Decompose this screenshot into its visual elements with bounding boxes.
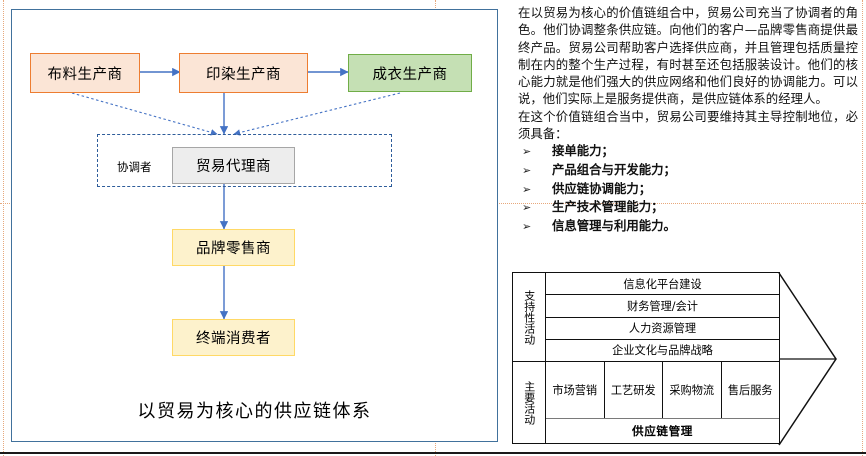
table-row: 企业文化与品牌战略 xyxy=(546,340,779,361)
list-item: ➢ 信息管理与利用能力。 xyxy=(518,217,858,236)
list-item: ➢ 产品组合与开发能力； xyxy=(518,161,858,180)
body-text: 在以贸易为核心的价值链组合中，贸易公司充当了协调者的角色。他们协调整条供应链。向… xyxy=(518,4,858,142)
value-chain-table: 支持性活动 信息化平台建设 财务管理/会计 人力资源管理 企业文化与品牌战略 主… xyxy=(512,272,780,444)
primary-activities-columns: 市场营销 工艺研发 采购物流 售后服务 供应链管理 xyxy=(546,362,779,443)
node-garment-producer[interactable]: 成衣生产商 xyxy=(348,54,472,92)
page-bottom-rule xyxy=(0,452,866,454)
arrow-bullet-icon: ➢ xyxy=(518,162,552,180)
node-label: 贸易代理商 xyxy=(196,155,271,176)
table-row: 人力资源管理 xyxy=(546,318,779,340)
arrow-bullet-icon: ➢ xyxy=(518,199,552,217)
node-trade-agent[interactable]: 贸易代理商 xyxy=(172,147,295,184)
guide-line-left xyxy=(3,0,4,456)
primary-activities-label: 主要活动 xyxy=(513,362,546,443)
node-label: 印染生产商 xyxy=(206,63,281,84)
list-item-label: 信息管理与利用能力。 xyxy=(552,217,676,235)
list-item: ➢ 接单能力； xyxy=(518,142,858,161)
value-chain-arrowhead-icon xyxy=(778,270,860,448)
node-end-consumer[interactable]: 终端消费者 xyxy=(172,319,295,356)
paragraph-1: 在以贸易为核心的价值链组合中，贸易公司充当了协调者的角色。他们协调整条供应链。向… xyxy=(518,4,858,108)
guide-line-right xyxy=(862,0,863,456)
support-activities-label: 支持性活动 xyxy=(513,273,546,361)
arrow-bullet-icon: ➢ xyxy=(518,181,552,199)
table-cell: 采购物流 xyxy=(663,362,722,418)
node-label: 成衣生产商 xyxy=(373,63,448,84)
supply-chain-diagram-panel: 协调者 布料生产商 印染生产商 成衣生产商 贸易代理商 品牌零售商 终端消费者 … xyxy=(11,9,498,442)
supply-chain-management-footer: 供应链管理 xyxy=(546,419,779,443)
primary-activity-cells: 市场营销 工艺研发 采购物流 售后服务 xyxy=(546,362,779,419)
node-dyeing-producer[interactable]: 印染生产商 xyxy=(179,53,308,93)
support-activities-rows: 信息化平台建设 财务管理/会计 人力资源管理 企业文化与品牌战略 xyxy=(546,273,779,361)
node-brand-retailer[interactable]: 品牌零售商 xyxy=(172,229,295,266)
table-cell: 售后服务 xyxy=(722,362,780,418)
arrow-bullet-icon: ➢ xyxy=(518,218,552,236)
diagram-caption: 以贸易为核心的供应链体系 xyxy=(12,397,497,423)
table-row: 财务管理/会计 xyxy=(546,295,779,317)
arrow-bullet-icon: ➢ xyxy=(518,143,552,161)
node-label: 品牌零售商 xyxy=(196,237,271,258)
coordinator-label: 协调者 xyxy=(117,159,152,175)
table-cell: 市场营销 xyxy=(546,362,605,418)
table-row: 信息化平台建设 xyxy=(546,273,779,295)
primary-activities-band: 主要活动 市场营销 工艺研发 采购物流 售后服务 供应链管理 xyxy=(513,362,779,443)
list-item-label: 供应链协调能力； xyxy=(552,180,651,198)
list-item: ➢ 生产技术管理能力； xyxy=(518,198,858,217)
list-item-label: 生产技术管理能力； xyxy=(552,198,664,216)
node-label: 终端消费者 xyxy=(196,327,271,348)
list-item: ➢ 供应链协调能力； xyxy=(518,180,858,199)
list-item-label: 产品组合与开发能力； xyxy=(552,161,676,179)
explanatory-text-column: 在以贸易为核心的价值链组合中，贸易公司充当了协调者的角色。他们协调整条供应链。向… xyxy=(518,4,858,235)
capability-bullet-list: ➢ 接单能力； ➢ 产品组合与开发能力； ➢ 供应链协调能力； ➢ 生产技术管理… xyxy=(518,142,858,235)
support-activities-band: 支持性活动 信息化平台建设 财务管理/会计 人力资源管理 企业文化与品牌战略 xyxy=(513,273,779,362)
node-fabric-producer[interactable]: 布料生产商 xyxy=(30,53,140,93)
table-cell: 工艺研发 xyxy=(605,362,664,418)
value-chain-diagram: 支持性活动 信息化平台建设 财务管理/会计 人力资源管理 企业文化与品牌战略 主… xyxy=(512,270,860,448)
paragraph-2: 在这个价值链组合当中，贸易公司要维持其主导控制地位，必须具备： xyxy=(518,108,858,143)
list-item-label: 接单能力； xyxy=(552,142,614,160)
node-label: 布料生产商 xyxy=(48,63,123,84)
